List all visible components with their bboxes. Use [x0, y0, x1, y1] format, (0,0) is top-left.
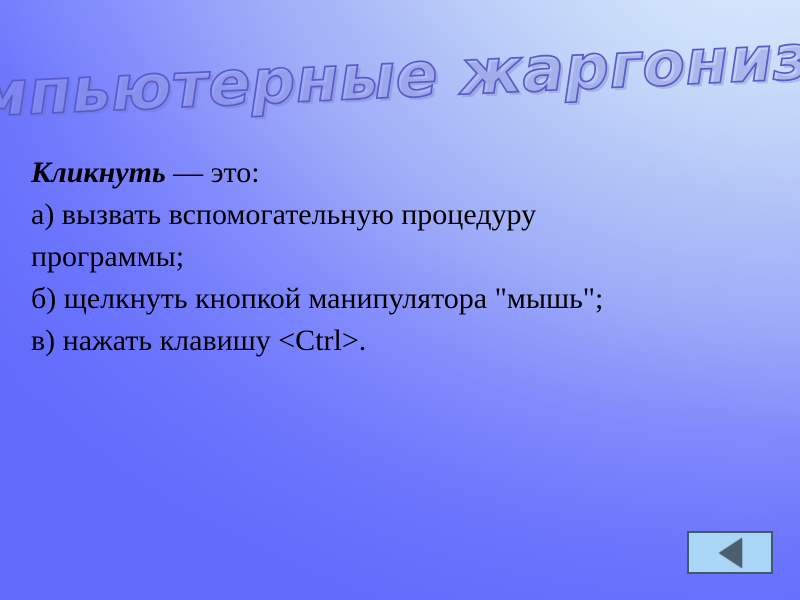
wordart-title-graphic: Компьютерные жаргонизмы Компьютерные жар… [0, 22, 800, 118]
triangle-left-icon [719, 538, 742, 568]
question-lead: это: [211, 156, 260, 189]
question-lead-line: Кликнуть — это: [31, 152, 771, 194]
answer-option-v: в) нажать клавишу <Ctrl>. [31, 320, 771, 362]
answer-option-a: а) вызвать вспомогательную процедуру [31, 194, 771, 236]
answer-option-b: б) щелкнуть кнопкой манипулятора "мышь"; [31, 278, 771, 320]
presentation-slide: Компьютерные жаргонизмы Компьютерные жар… [0, 0, 800, 600]
question-block: Кликнуть — это: а) вызвать вспомогательн… [31, 152, 771, 362]
wordart-title-outline: Компьютерные жаргонизмы [0, 16, 800, 136]
slide-title: Компьютерные жаргонизмы Компьютерные жар… [0, 22, 800, 118]
question-term: Кликнуть [31, 156, 166, 189]
question-dash: — [166, 156, 211, 189]
answer-option-a-continued: программы; [31, 236, 771, 278]
back-button[interactable] [687, 531, 773, 574]
